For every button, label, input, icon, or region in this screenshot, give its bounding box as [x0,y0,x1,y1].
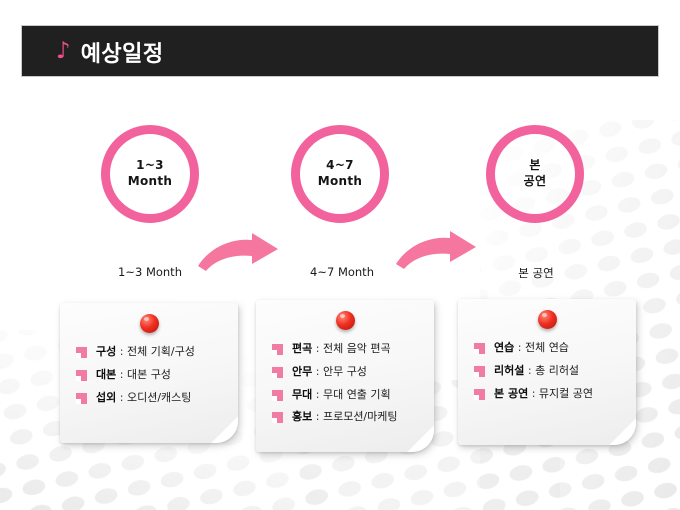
item-desc: 뮤지컬 공연 [539,387,593,400]
phase-circle-2-line2: Month [318,174,363,190]
item-term: 홍보 [292,410,312,423]
bullet-icon [272,412,283,423]
item-separator: : [312,342,323,355]
list-item: 무대 : 무대 연출 기획 [272,388,426,402]
item-separator: : [312,410,323,423]
item-desc: 총 리허설 [535,364,579,377]
phase-circle-2-line1: 4~7 [326,158,354,174]
item-desc: 프로모션/마케팅 [323,410,398,423]
phase-circle-1-line1: 1~3 [136,158,164,174]
pushpin-icon [140,314,159,333]
list-item: 섭외 : 오디션/캐스팅 [76,391,230,405]
list-item: 연습 : 전체 연습 [474,341,628,355]
item-separator: : [312,365,323,378]
sticky-note-2-list: 편곡 : 전체 음악 편곡 안무 : 안무 구성 무대 : 무대 연출 기획 홍… [272,342,426,433]
bullet-icon [474,366,485,377]
bullet-icon [474,389,485,400]
phase-circle-1-line2: Month [128,174,173,190]
item-separator: : [524,364,535,377]
sticky-note-3-list: 연습 : 전체 연습 리허설 : 총 리허설 본 공연 : 뮤지컬 공연 [474,341,628,409]
item-separator: : [116,345,127,358]
item-separator: : [514,341,525,354]
sticky-note-1-list: 구성 : 전체 기획/구성 대본 : 대본 구성 섭외 : 오디션/캐스팅 [76,345,230,413]
bullet-icon [76,393,87,404]
item-term: 섭외 [96,391,116,404]
item-separator: : [116,368,127,381]
item-separator: : [116,391,127,404]
phase-label-2: 4~7 Month [272,265,412,279]
phase-circle-2: 4~7 Month [291,125,389,223]
item-desc: 전체 기획/구성 [127,345,195,358]
phase-circle-3-line1: 본 [529,158,540,174]
item-desc: 무대 연출 기획 [323,388,391,401]
item-desc: 오디션/캐스팅 [127,391,191,404]
slide-title-bar: ♪ 예상일정 [21,25,659,77]
bullet-icon [76,370,87,381]
bullet-icon [272,367,283,378]
item-desc: 전체 연습 [525,341,569,354]
pushpin-icon [538,310,557,329]
bullet-icon [76,347,87,358]
phase-label-3: 본 공연 [466,265,606,281]
item-term: 본 공연 [494,387,528,400]
phase-label-1: 1~3 Month [80,265,220,279]
list-item: 편곡 : 전체 음악 편곡 [272,342,426,356]
item-term: 대본 [96,368,116,381]
phase-circle-3: 본 공연 [486,125,584,223]
phase-circle-1: 1~3 Month [101,125,199,223]
item-term: 편곡 [292,342,312,355]
item-desc: 안무 구성 [323,365,367,378]
item-term: 무대 [292,388,312,401]
item-desc: 전체 음악 편곡 [323,342,391,355]
list-item: 홍보 : 프로모션/마케팅 [272,410,426,424]
item-term: 연습 [494,341,514,354]
item-separator: : [528,387,539,400]
phase-circle-3-line2: 공연 [524,174,547,190]
page-title: 예상일정 [81,36,164,68]
item-desc: 대본 구성 [127,368,171,381]
bullet-icon [474,343,485,354]
sticky-note-1[interactable]: 구성 : 전체 기획/구성 대본 : 대본 구성 섭외 : 오디션/캐스팅 [60,303,238,443]
bullet-icon [272,344,283,355]
bullet-icon [272,390,283,401]
list-item: 리허설 : 총 리허설 [474,364,628,378]
item-separator: : [312,388,323,401]
list-item: 대본 : 대본 구성 [76,368,230,382]
list-item: 본 공연 : 뮤지컬 공연 [474,387,628,401]
list-item: 안무 : 안무 구성 [272,365,426,379]
sticky-note-2[interactable]: 편곡 : 전체 음악 편곡 안무 : 안무 구성 무대 : 무대 연출 기획 홍… [256,300,434,452]
sticky-note-3[interactable]: 연습 : 전체 연습 리허설 : 총 리허설 본 공연 : 뮤지컬 공연 [458,299,636,445]
pushpin-icon [336,311,355,330]
list-item: 구성 : 전체 기획/구성 [76,345,230,359]
item-term: 안무 [292,365,312,378]
music-note-icon: ♪ [56,40,71,63]
item-term: 구성 [96,345,116,358]
item-term: 리허설 [494,364,524,377]
